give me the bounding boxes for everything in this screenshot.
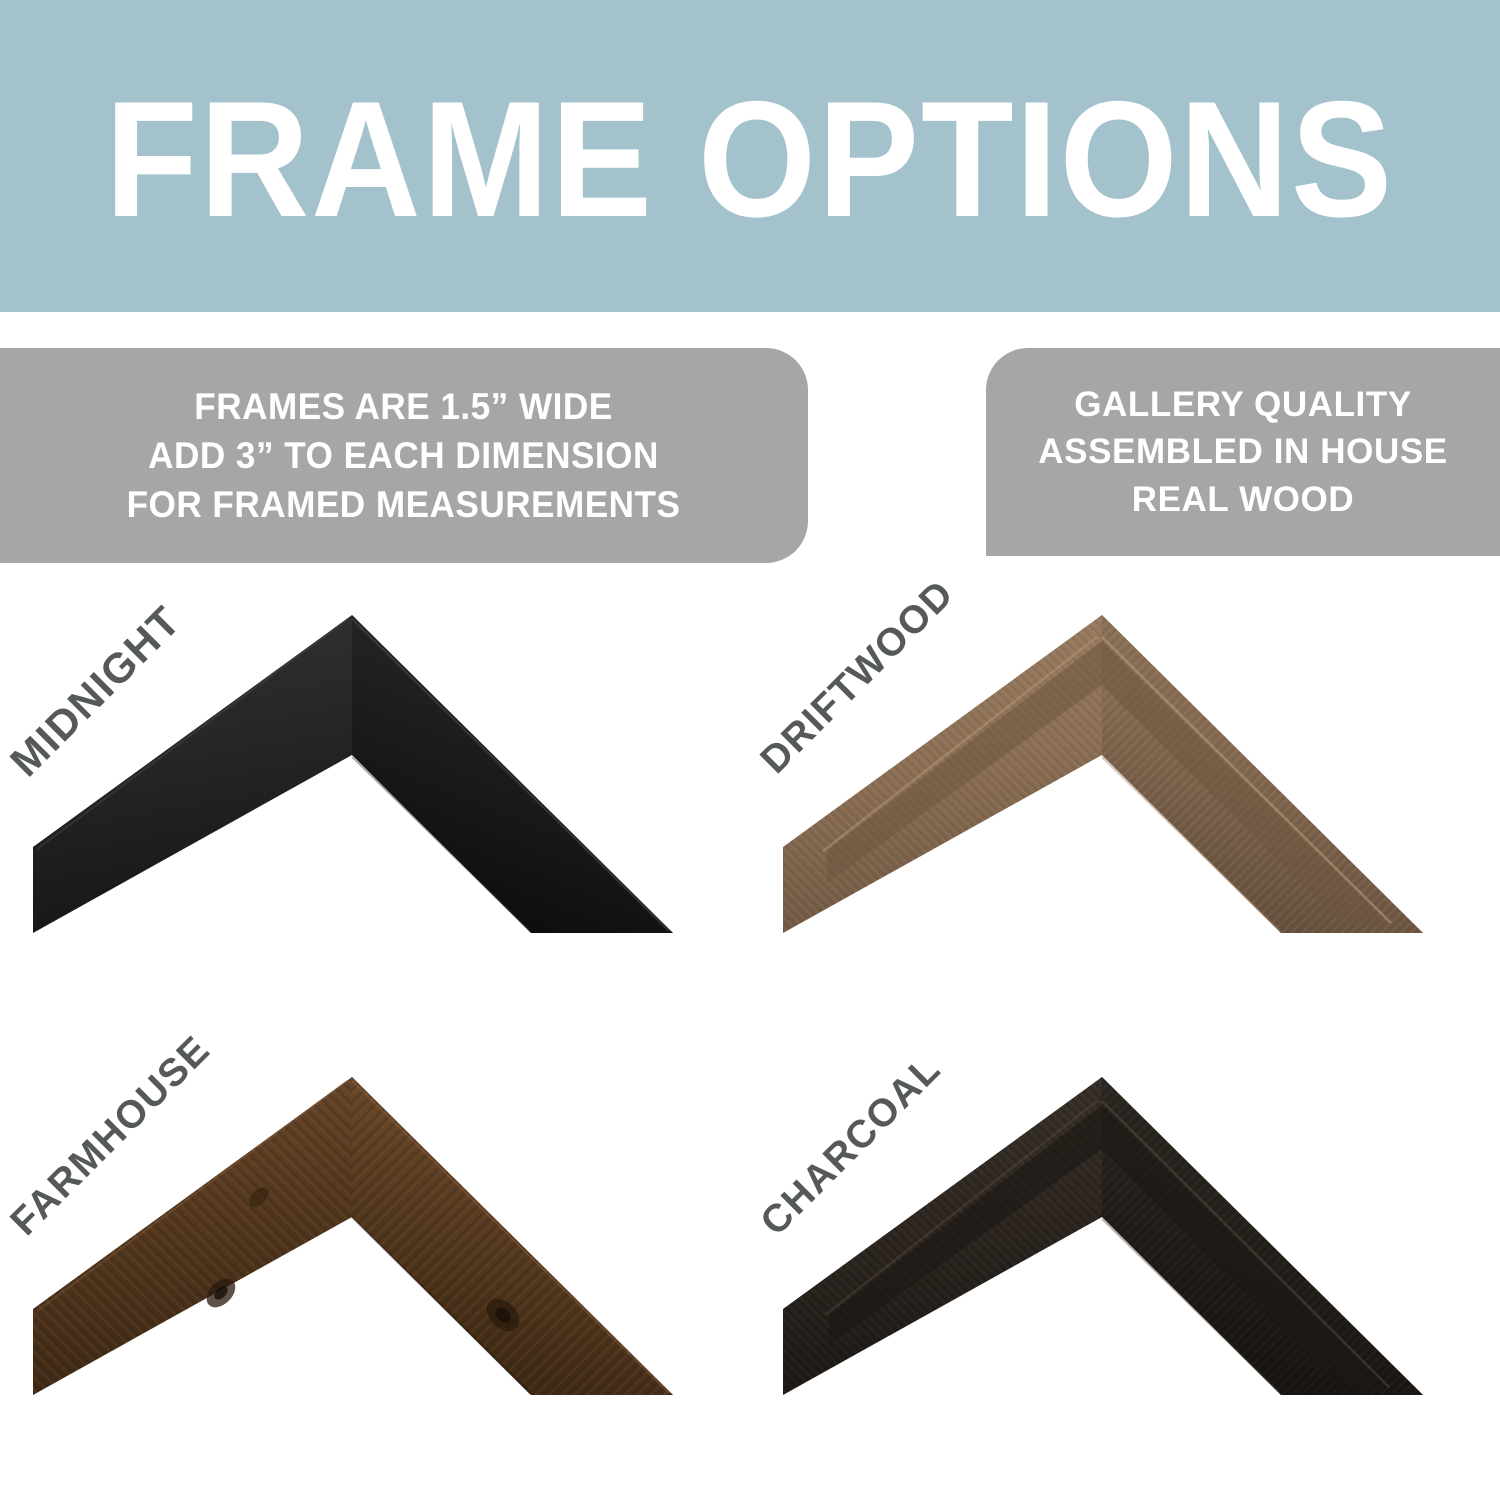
header-banner: FRAME OPTIONS xyxy=(0,0,1500,312)
frame-option-charcoal[interactable]: CHARCOAL xyxy=(750,1037,1500,1499)
frame-corner-chevron-icon xyxy=(33,1077,673,1407)
frame-corner-chevron-icon xyxy=(783,1077,1423,1407)
frame-option-farmhouse[interactable]: FARMHOUSE xyxy=(0,1037,750,1499)
info-line: GALLERY QUALITY xyxy=(1038,381,1447,428)
frame-corner-chevron-icon xyxy=(783,615,1423,945)
info-line: ASSEMBLED IN HOUSE xyxy=(1038,428,1447,475)
page-title: FRAME OPTIONS xyxy=(106,77,1395,242)
info-box-measurements: FRAMES ARE 1.5” WIDE ADD 3” TO EACH DIME… xyxy=(0,348,808,563)
frame-option-midnight[interactable]: MIDNIGHT xyxy=(0,575,750,1037)
info-box-quality-text: GALLERY QUALITY ASSEMBLED IN HOUSE REAL … xyxy=(1038,381,1487,523)
info-box-quality: GALLERY QUALITY ASSEMBLED IN HOUSE REAL … xyxy=(986,348,1500,556)
frame-option-driftwood[interactable]: DRIFTWOOD xyxy=(750,575,1500,1037)
info-line: REAL WOOD xyxy=(1038,476,1447,523)
frame-corner-chevron-icon xyxy=(33,615,673,945)
info-box-measurements-text: FRAMES ARE 1.5” WIDE ADD 3” TO EACH DIME… xyxy=(88,382,680,530)
frame-options-grid: MIDNIGHT xyxy=(0,575,1500,1500)
info-line: FOR FRAMED MEASUREMENTS xyxy=(126,480,680,529)
info-line: FRAMES ARE 1.5” WIDE xyxy=(126,382,680,431)
info-line: ADD 3” TO EACH DIMENSION xyxy=(126,431,680,480)
